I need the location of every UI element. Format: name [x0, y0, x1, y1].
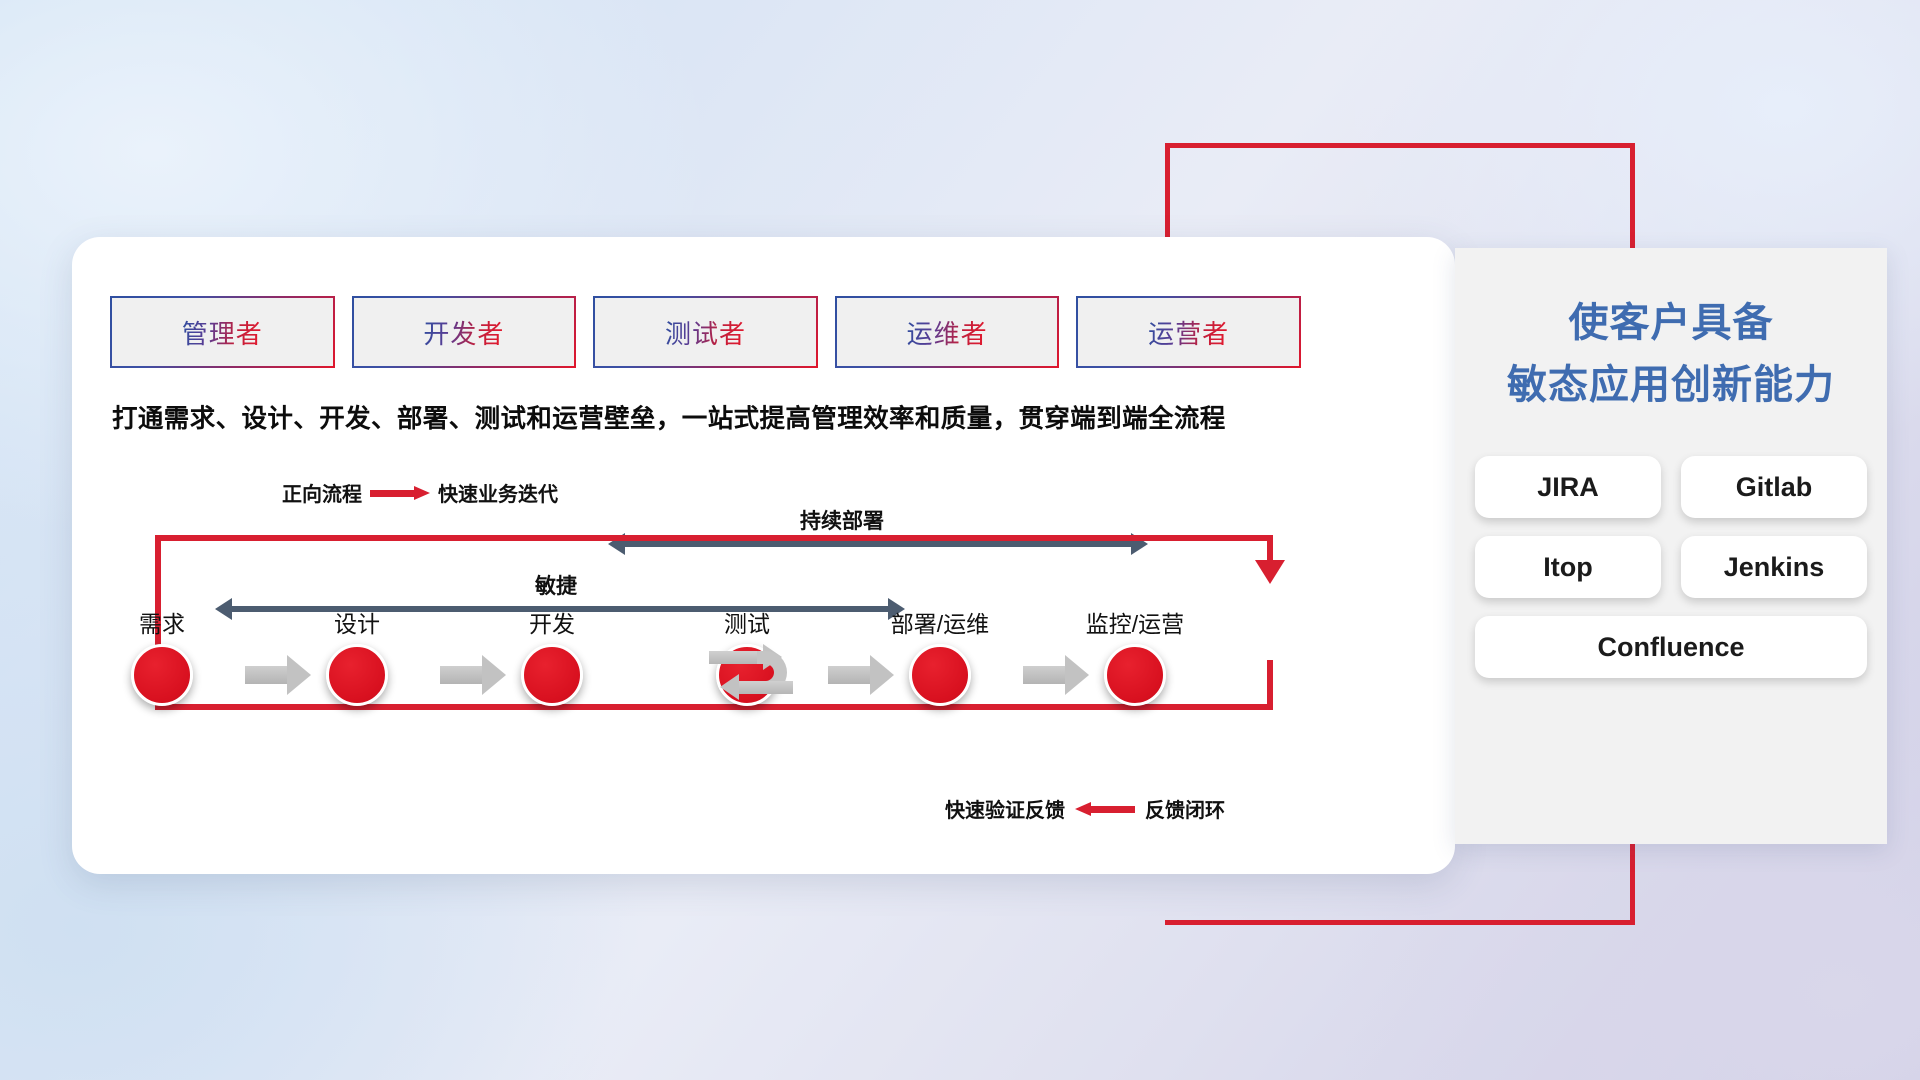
capability-panel-title: 使客户具备 敏态应用创新能力	[1455, 292, 1887, 416]
pipeline-node-development[interactable]: 开发	[492, 605, 612, 706]
tool-chip-gitlab[interactable]: Gitlab	[1681, 456, 1867, 518]
pipeline-node-dot	[326, 644, 388, 706]
tool-chip-jira[interactable]: JIRA	[1475, 456, 1661, 518]
pipeline-node-dot	[521, 644, 583, 706]
role-box-tester[interactable]: 测试者	[595, 298, 816, 366]
span-label-continuous-deployment: 持续部署	[800, 505, 884, 535]
feedback-loop-right	[1267, 535, 1273, 563]
pipeline-node-label: 监控/运营	[1075, 605, 1195, 639]
tool-chip-itop[interactable]: Itop	[1475, 536, 1661, 598]
pipeline-node-label: 部署/运维	[880, 605, 1000, 639]
role-box-developer[interactable]: 开发者	[354, 298, 575, 366]
chevron-right-icon	[1023, 655, 1089, 695]
pipeline-node-deploy-ops[interactable]: 部署/运维	[880, 605, 1000, 706]
legend-forward-from: 正向流程	[282, 478, 362, 507]
role-label: 开发者	[423, 314, 504, 351]
bracket-bottom-segment	[1165, 920, 1635, 925]
feedback-loop-arrow-down-icon	[1255, 560, 1285, 584]
chevron-right-icon	[828, 655, 894, 695]
tool-chip-jenkins[interactable]: Jenkins	[1681, 536, 1867, 598]
feedback-loop-right-lower	[1267, 660, 1273, 710]
pipeline-node-label: 开发	[492, 605, 612, 639]
bracket-top-segment	[1165, 143, 1635, 148]
panel-title-line-2: 敏态应用创新能力	[1455, 354, 1887, 416]
chevron-right-icon	[440, 655, 506, 695]
role-label: 管理者	[182, 314, 263, 351]
exchange-icon	[709, 645, 793, 703]
pipeline-node-label: 需求	[102, 605, 222, 639]
role-box-ops[interactable]: 运维者	[837, 298, 1058, 366]
pipeline-node-dot	[131, 644, 193, 706]
legend-feedback-loop: 快速验证反馈 反馈闭环	[945, 794, 1225, 823]
legend-forward-flow: 正向流程 快速业务迭代	[282, 478, 558, 507]
pipeline-node-design[interactable]: 设计	[297, 605, 417, 706]
span-label-agile: 敏捷	[535, 570, 577, 600]
legend-feedback-to: 快速验证反馈	[945, 794, 1065, 823]
legend-feedback-from: 反馈闭环	[1145, 794, 1225, 823]
role-label: 运营者	[1148, 314, 1229, 351]
role-box-row: 管理者 开发者 测试者 运维者 运营者	[112, 298, 1299, 366]
tool-chip-list: JIRA Gitlab Itop Jenkins Confluence	[1475, 456, 1867, 678]
pipeline-node-requirement[interactable]: 需求	[102, 605, 222, 706]
diagram-canvas: 管理者 开发者 测试者 运维者 运营者 打通需求、设计、开发、部署、测试和运营壁…	[0, 0, 1920, 1080]
capability-panel: 使客户具备 敏态应用创新能力 JIRA Gitlab Itop Jenkins …	[1455, 248, 1887, 844]
pipeline-node-label: 测试	[687, 605, 807, 639]
panel-title-line-1: 使客户具备	[1455, 292, 1887, 354]
feedback-loop-top	[155, 535, 1273, 541]
pipeline-node-monitor-operate[interactable]: 监控/运营	[1075, 605, 1195, 706]
tool-chip-confluence[interactable]: Confluence	[1475, 616, 1867, 678]
chevron-right-icon	[245, 655, 311, 695]
legend-forward-to: 快速业务迭代	[438, 478, 558, 507]
headline-text: 打通需求、设计、开发、部署、测试和运营壁垒，一站式提高管理效率和质量，贯穿端到端…	[112, 398, 1312, 435]
role-label: 测试者	[665, 314, 746, 351]
pipeline-node-dot	[1104, 644, 1166, 706]
arrow-left-icon	[1075, 802, 1135, 816]
role-label: 运维者	[907, 314, 988, 351]
role-box-manager[interactable]: 管理者	[112, 298, 333, 366]
arrow-right-icon	[370, 486, 430, 500]
pipeline-node-label: 设计	[297, 605, 417, 639]
pipeline-node-dot	[909, 644, 971, 706]
role-box-operator[interactable]: 运营者	[1078, 298, 1299, 366]
